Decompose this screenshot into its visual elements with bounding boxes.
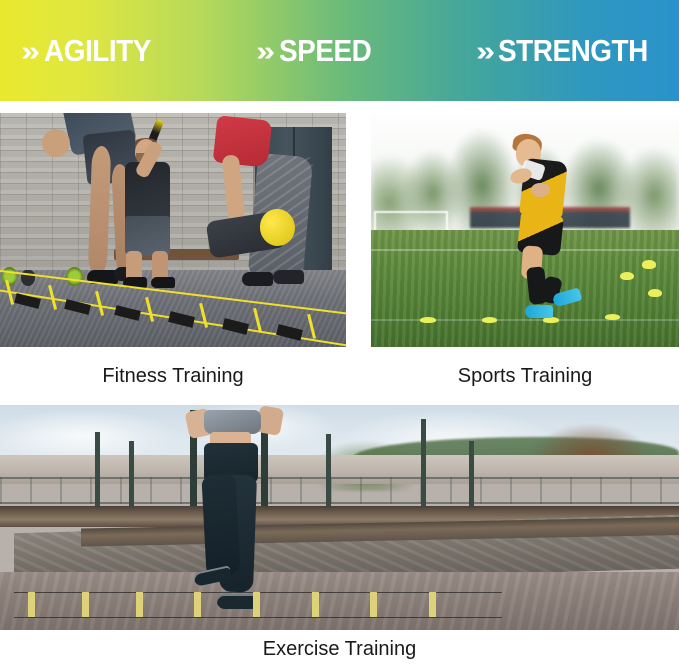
gallery-bottom-caption: Exercise Training xyxy=(0,632,679,666)
runner-sports-bra xyxy=(204,410,262,435)
feature-banner: » AGILITY » SPEED » STRENGTH xyxy=(0,0,679,101)
banner-item-agility: » AGILITY xyxy=(22,35,162,67)
banner-label-agility: AGILITY xyxy=(44,35,151,66)
gallery-image-exercise xyxy=(0,405,679,630)
marker-disc xyxy=(482,317,497,323)
banner-label-speed: SPEED xyxy=(279,35,371,66)
agility-ladder xyxy=(14,592,503,617)
product-feature-panel: » AGILITY » SPEED » STRENGTH xyxy=(0,0,679,666)
light-pole xyxy=(469,441,474,513)
marker-disc xyxy=(420,317,435,323)
light-pole xyxy=(326,434,331,511)
chevron-right-icon: » xyxy=(21,38,36,66)
caption-fitness-training: Fitness Training xyxy=(0,365,346,388)
runner-leg xyxy=(201,474,240,577)
light-pole xyxy=(95,432,100,513)
pitch-line xyxy=(371,319,679,321)
boy-boot xyxy=(525,305,553,318)
gallery-top-row xyxy=(0,113,679,347)
marker-disc xyxy=(620,272,634,280)
chevron-right-icon: » xyxy=(476,38,491,66)
caption-sports-training: Sports Training xyxy=(371,365,679,388)
caption-exercise-training: Exercise Training xyxy=(263,638,416,661)
agility-ladder xyxy=(0,281,346,347)
gallery-image-fitness xyxy=(0,113,346,347)
banner-item-strength: » STRENGTH xyxy=(477,35,665,67)
chevron-right-icon: » xyxy=(257,38,272,66)
marker-disc xyxy=(642,260,656,268)
gallery-image-sports xyxy=(371,113,679,347)
banner-item-speed: » SPEED xyxy=(257,35,381,67)
athlete-center-shorts xyxy=(125,216,170,256)
perimeter-fence xyxy=(0,477,679,504)
athlete-right-top xyxy=(212,115,272,167)
banner-label-strength: STRENGTH xyxy=(498,35,648,66)
boy-arm xyxy=(531,183,549,197)
light-pole xyxy=(421,419,426,514)
gallery-top-captions: Fitness Training Sports Training xyxy=(0,352,679,400)
light-pole xyxy=(129,441,134,513)
marker-disc xyxy=(648,289,662,297)
